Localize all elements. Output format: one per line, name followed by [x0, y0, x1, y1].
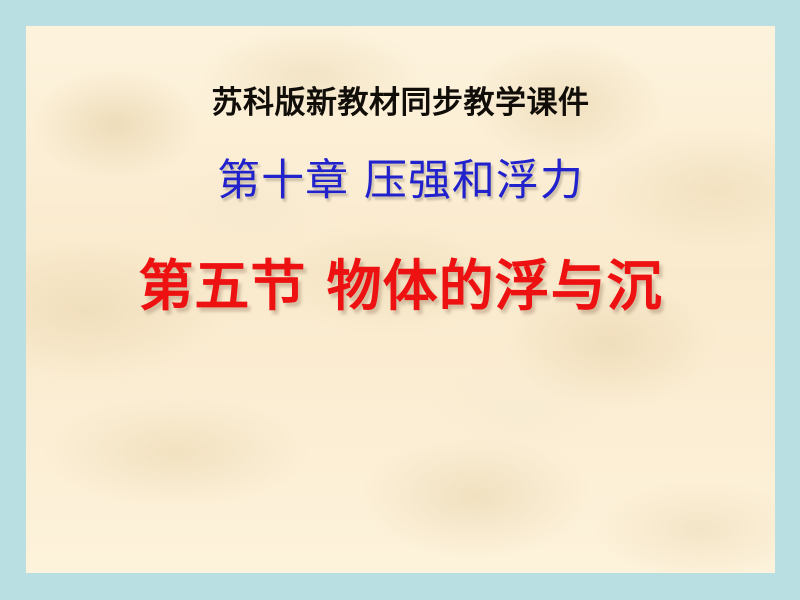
section-title: 第五节 物体的浮与沉	[26, 258, 775, 313]
presentation-slide: 苏科版新教材同步教学课件 第十章 压强和浮力 第五节 物体的浮与沉	[0, 0, 800, 600]
chapter-title: 第十章 压强和浮力	[26, 160, 775, 203]
slide-content-panel: 苏科版新教材同步教学课件 第十章 压强和浮力 第五节 物体的浮与沉	[26, 26, 775, 573]
publisher-heading: 苏科版新教材同步教学课件	[26, 88, 775, 119]
